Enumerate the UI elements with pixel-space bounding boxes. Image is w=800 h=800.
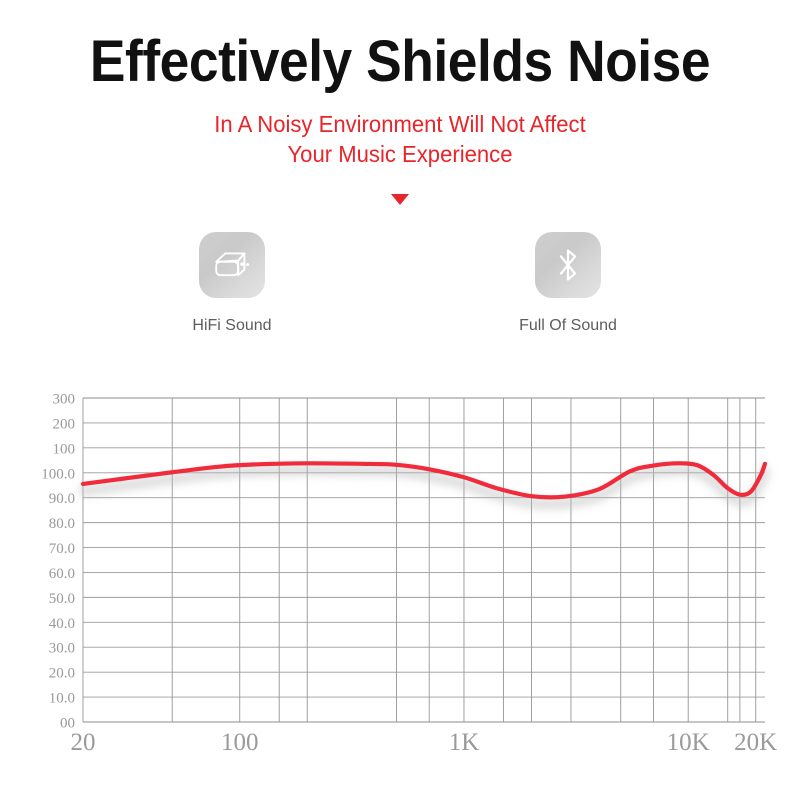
y-axis-tick-label: 10.0: [49, 691, 75, 707]
chart-series-frequency-response: [83, 463, 765, 504]
y-axis-tick-label: 30.0: [49, 641, 75, 657]
caret-wrapper: [0, 192, 800, 210]
y-axis-tick-label: 50.0: [49, 591, 75, 607]
y-axis-tick-label: 20.0: [49, 666, 75, 682]
chart-x-gridlines: [83, 398, 756, 722]
frequency-response-line-shadow: [83, 470, 765, 504]
y-axis-tick-label: 90.0: [49, 491, 75, 507]
x-axis-tick-label: 100: [221, 729, 259, 756]
frequency-response-chart: 300200100100.090.080.070.060.050.040.030…: [0, 386, 800, 786]
y-axis-tick-label: 40.0: [49, 616, 75, 632]
x-axis-tick-label: 10K: [667, 729, 710, 756]
hero-subtitle-line-1: In A Noisy Environment Will Not Affect: [16, 109, 784, 139]
hero-subtitle: In A Noisy Environment Will Not Affect Y…: [16, 109, 784, 170]
y-axis-tick-label: 100: [53, 441, 76, 457]
x-axis-tick-label: 20K: [734, 729, 777, 756]
y-axis-tick-label: 70.0: [49, 541, 75, 557]
x-axis-tick-label: 20: [71, 729, 96, 756]
y-axis-tick-label: 200: [53, 416, 76, 432]
y-axis-tick-label: 100.0: [41, 466, 75, 482]
chart-x-axis-labels: 201001K10K20K: [71, 729, 778, 756]
earbud-case-icon: [199, 232, 265, 298]
caret-down-icon: [391, 194, 409, 205]
y-axis-tick-label: 80.0: [49, 516, 75, 532]
y-axis-tick-label: 300: [53, 392, 76, 408]
feature-item-full-of-sound[interactable]: Full Of Sound: [508, 232, 628, 335]
hero-section: Effectively Shields Noise In A Noisy Env…: [0, 0, 800, 210]
feature-label: Full Of Sound: [508, 317, 628, 335]
page-title: Effectively Shields Noise: [32, 30, 768, 95]
feature-label: HiFi Sound: [172, 317, 292, 335]
chart-y-gridlines: [83, 398, 765, 722]
x-axis-tick-label: 1K: [449, 729, 480, 756]
chart-y-axis-labels: 300200100100.090.080.070.060.050.040.030…: [41, 392, 75, 732]
y-axis-tick-label: 60.0: [49, 566, 75, 582]
hero-subtitle-line-2: Your Music Experience: [16, 139, 784, 169]
feature-list: HiFi Sound Full Of Sound: [0, 232, 800, 335]
feature-item-hifi-sound[interactable]: HiFi Sound: [172, 232, 292, 335]
bluetooth-icon: [535, 232, 601, 298]
